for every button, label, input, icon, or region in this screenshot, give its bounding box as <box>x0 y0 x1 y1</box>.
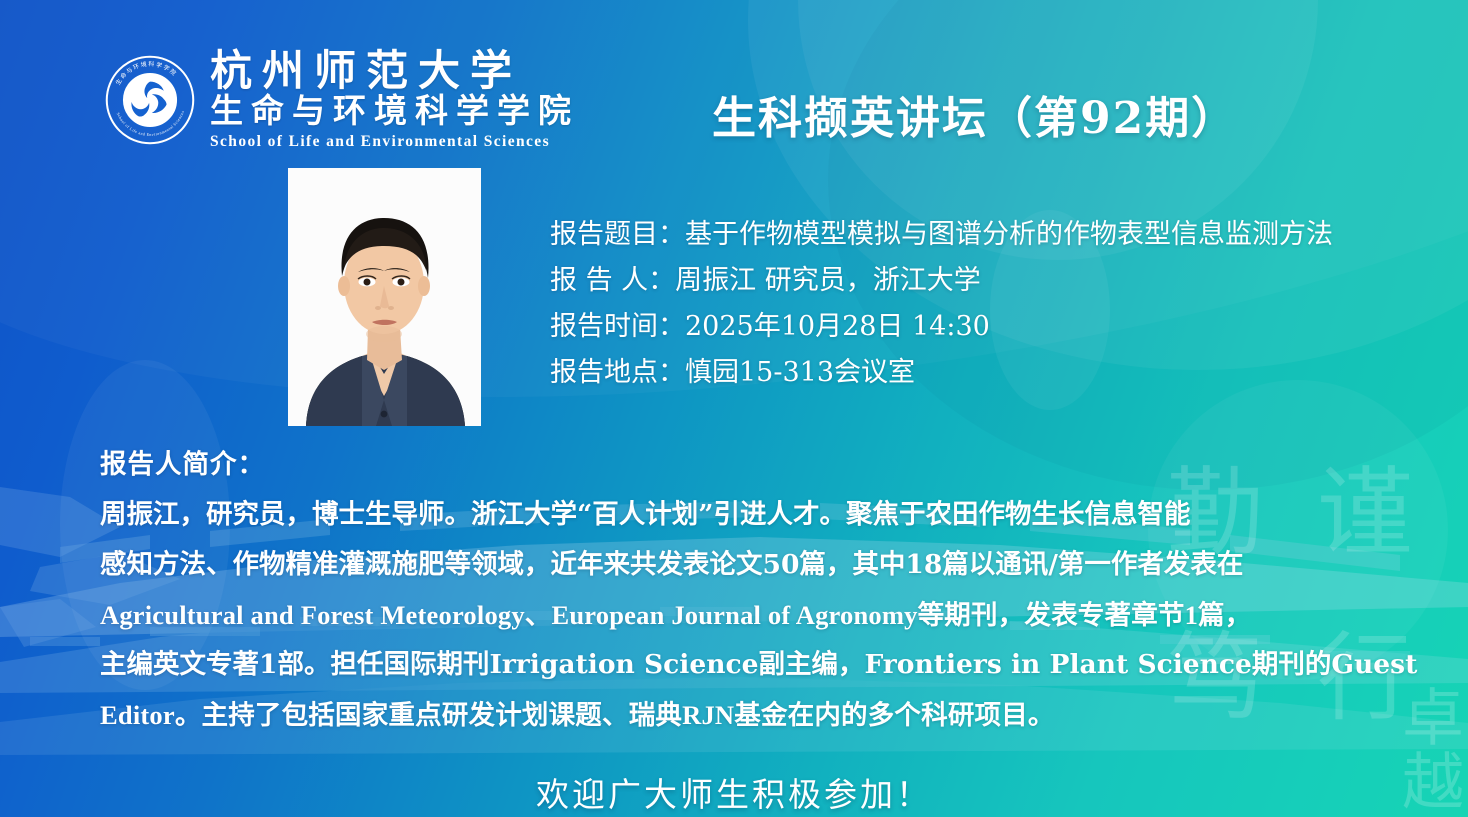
bio-line: Agricultural and Forest Meteorology、Euro… <box>100 590 1380 640</box>
info-value: 周振江 研究员，浙江大学 <box>675 265 981 296</box>
info-label: 报告地点： <box>550 357 685 388</box>
bio-line: Editor。主持了包括国家重点研发计划课题、瑞典RJN基金在内的多个科研项目。 <box>100 690 1380 740</box>
bio-line: 周振江，研究员，博士生导师。浙江大学“百人计划”引进人才。聚焦于农田作物生长信息… <box>100 490 1380 540</box>
page-title: 生科撷英讲坛（第92期） <box>712 82 1237 146</box>
school-name-en: School of Life and Environmental Science… <box>210 133 579 151</box>
bio-heading: 报告人简介： <box>100 440 1380 490</box>
event-info: 报告题目：基于作物模型模拟与图谱分析的作物表型信息监测方法 报 告 人：周振江 … <box>550 212 1333 396</box>
bio-line: 主编英文专著1部。担任国际期刊Irrigation Science副主编，Fro… <box>100 640 1380 690</box>
info-value: 慎园15-313会议室 <box>685 357 915 388</box>
info-value: 基于作物模型模拟与图谱分析的作物表型信息监测方法 <box>685 219 1333 250</box>
institution-name-block: 杭州师范大学 生命与环境科学学院 School of Life and Envi… <box>210 50 579 151</box>
speaker-portrait <box>288 168 481 426</box>
info-label: 报告题目： <box>550 219 685 250</box>
school-name-cn: 生命与环境科学学院 <box>210 93 579 130</box>
university-name-cn: 杭州师范大学 <box>210 50 579 93</box>
info-label: 报 告 人： <box>550 265 675 296</box>
speaker-biography: 报告人简介： 周振江，研究员，博士生导师。浙江大学“百人计划”引进人才。聚焦于农… <box>100 440 1380 740</box>
bio-line: 感知方法、作物精准灌溉施肥等领域，近年来共发表论文50篇，其中18篇以通讯/第一… <box>100 540 1380 590</box>
info-row-topic: 报告题目：基于作物模型模拟与图谱分析的作物表型信息监测方法 <box>550 212 1333 258</box>
info-label: 报告时间： <box>550 311 685 342</box>
institution-header: 生命与环境科学学院 School of Life and Environment… <box>104 50 579 151</box>
info-row-speaker: 报 告 人：周振江 研究员，浙江大学 <box>550 258 1333 304</box>
info-row-venue: 报告地点：慎园15-313会议室 <box>550 350 1333 396</box>
info-row-time: 报告时间：2025年10月28日 14:30 <box>550 304 1333 350</box>
poster-canvas: 勤 谨 笃 行 卓越 生命与环境科学学院 <box>0 0 1468 817</box>
info-value: 2025年10月28日 14:30 <box>685 311 990 342</box>
welcome-message: 欢迎广大师生积极参加！ <box>0 768 1468 816</box>
circular-seal-icon: 生命与环境科学学院 School of Life and Environment… <box>104 54 196 146</box>
